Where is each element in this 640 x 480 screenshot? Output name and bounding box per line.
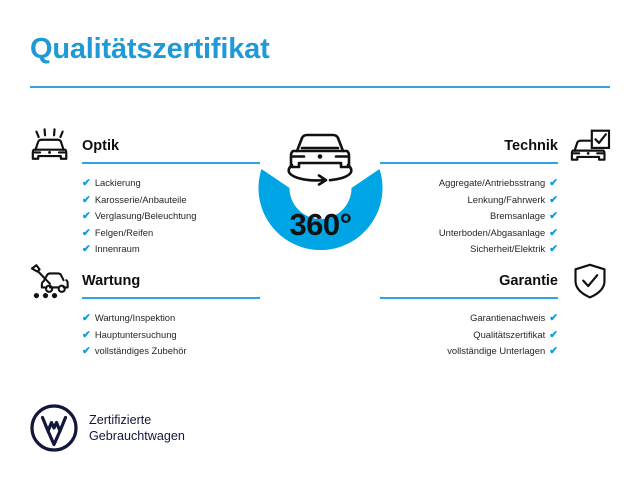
list-item: vollständige Unterlagen✔ [447,343,558,360]
section-garantie: Garantie Garantienachweis✔ Qualitätszert… [380,263,612,303]
check-icon: ✔ [549,242,558,258]
check-icon: ✔ [82,242,91,258]
section-technik-list: Aggregate/Antriebsstrang✔ Lenkung/Fahrwe… [439,175,558,258]
list-item: ✔Verglasung/Beleuchtung [82,208,196,225]
check-icon: ✔ [549,226,558,242]
section-wartung-header: Wartung [28,263,260,303]
list-item: ✔Karosserie/Anbauteile [82,192,196,209]
section-garantie-list: Garantienachweis✔ Qualitätszertifikat✔ v… [447,310,558,360]
check-icon: ✔ [82,176,91,192]
list-item-label: Innenraum [95,243,140,254]
check-icon: ✔ [82,311,91,327]
check-icon: ✔ [549,209,558,225]
list-item: Bremsanlage✔ [439,208,558,225]
check-icon: ✔ [82,328,91,344]
vw-brand-text: Zertifizierte Gebrauchtwagen [89,412,185,445]
list-item-label: Lenkung/Fahrwerk [468,194,546,205]
vw-brand-block: Zertifizierte Gebrauchtwagen [30,404,185,452]
section-garantie-header: Garantie [380,263,612,303]
section-optik-header: Optik [28,128,260,168]
check-icon: ✔ [82,193,91,209]
list-item: Garantienachweis✔ [447,310,558,327]
section-optik: Optik ✔Lackierung ✔Karosserie/Anbauteile… [28,128,260,168]
list-item: Unterboden/Abgasanlage✔ [439,225,558,242]
check-icon: ✔ [82,209,91,225]
list-item: ✔Felgen/Reifen [82,225,196,242]
list-item: ✔vollständiges Zubehör [82,343,187,360]
title-divider [30,86,610,88]
list-item-label: Qualitätszertifikat [473,329,545,340]
list-item: ✔Innenraum [82,241,196,258]
vw-brand-line1: Zertifizierte [89,412,185,429]
section-wartung: Wartung ✔Wartung/Inspektion ✔Hauptunters… [28,263,260,303]
car-front-rotate-icon [278,127,362,189]
list-item-label: vollständige Unterlagen [447,345,545,356]
list-item-label: Verglasung/Beleuchtung [95,210,197,221]
check-icon: ✔ [549,344,558,360]
wrench-car-service-icon [28,263,72,301]
section-technik-title: Technik [504,138,558,154]
section-wartung-title: Wartung [82,273,140,289]
list-item-label: Karosserie/Anbauteile [95,194,187,205]
list-item: Aggregate/Antriebsstrang✔ [439,175,558,192]
section-garantie-title: Garantie [499,273,558,289]
list-item: Sicherheit/Elektrik✔ [439,241,558,258]
check-icon: ✔ [82,344,91,360]
section-optik-list: ✔Lackierung ✔Karosserie/Anbauteile ✔Verg… [82,175,196,258]
car-front-shine-icon [28,128,72,166]
vw-brand-line2: Gebrauchtwagen [89,428,185,445]
list-item: ✔Wartung/Inspektion [82,310,187,327]
certificate-page: Qualitätszertifikat [0,0,640,480]
list-item-label: Sicherheit/Elektrik [470,243,545,254]
list-item-label: Hauptuntersuchung [95,329,177,340]
list-item-label: Bremsanlage [490,210,545,221]
check-icon: ✔ [549,176,558,192]
check-icon: ✔ [549,193,558,209]
section-technik-header: Technik [380,128,612,168]
section-optik-title: Optik [82,138,119,154]
list-item-label: Unterboden/Abgasanlage [439,227,545,238]
list-item-label: vollständiges Zubehör [95,345,187,356]
badge-360-gebrauchtwagen-check: Gebrauchtwagen-Check 360° [228,123,413,308]
list-item-label: Lackierung [95,177,141,188]
check-icon: ✔ [549,311,558,327]
section-technik: Technik Aggregate/Antriebsstrang✔ Lenkun… [380,128,612,168]
check-icon: ✔ [82,226,91,242]
shield-check-icon [568,263,612,301]
list-item: ✔Hauptuntersuchung [82,327,187,344]
list-item-label: Aggregate/Antriebsstrang [439,177,545,188]
list-item-label: Wartung/Inspektion [95,312,175,323]
list-item: Qualitätszertifikat✔ [447,327,558,344]
list-item: Lenkung/Fahrwerk✔ [439,192,558,209]
list-item-label: Garantienachweis [470,312,545,323]
car-front-checkbox-icon [568,128,612,166]
list-item: ✔Lackierung [82,175,196,192]
check-icon: ✔ [549,328,558,344]
vw-logo [30,404,78,452]
page-title: Qualitätszertifikat [30,33,270,66]
section-wartung-list: ✔Wartung/Inspektion ✔Hauptuntersuchung ✔… [82,310,187,360]
list-item-label: Felgen/Reifen [95,227,153,238]
